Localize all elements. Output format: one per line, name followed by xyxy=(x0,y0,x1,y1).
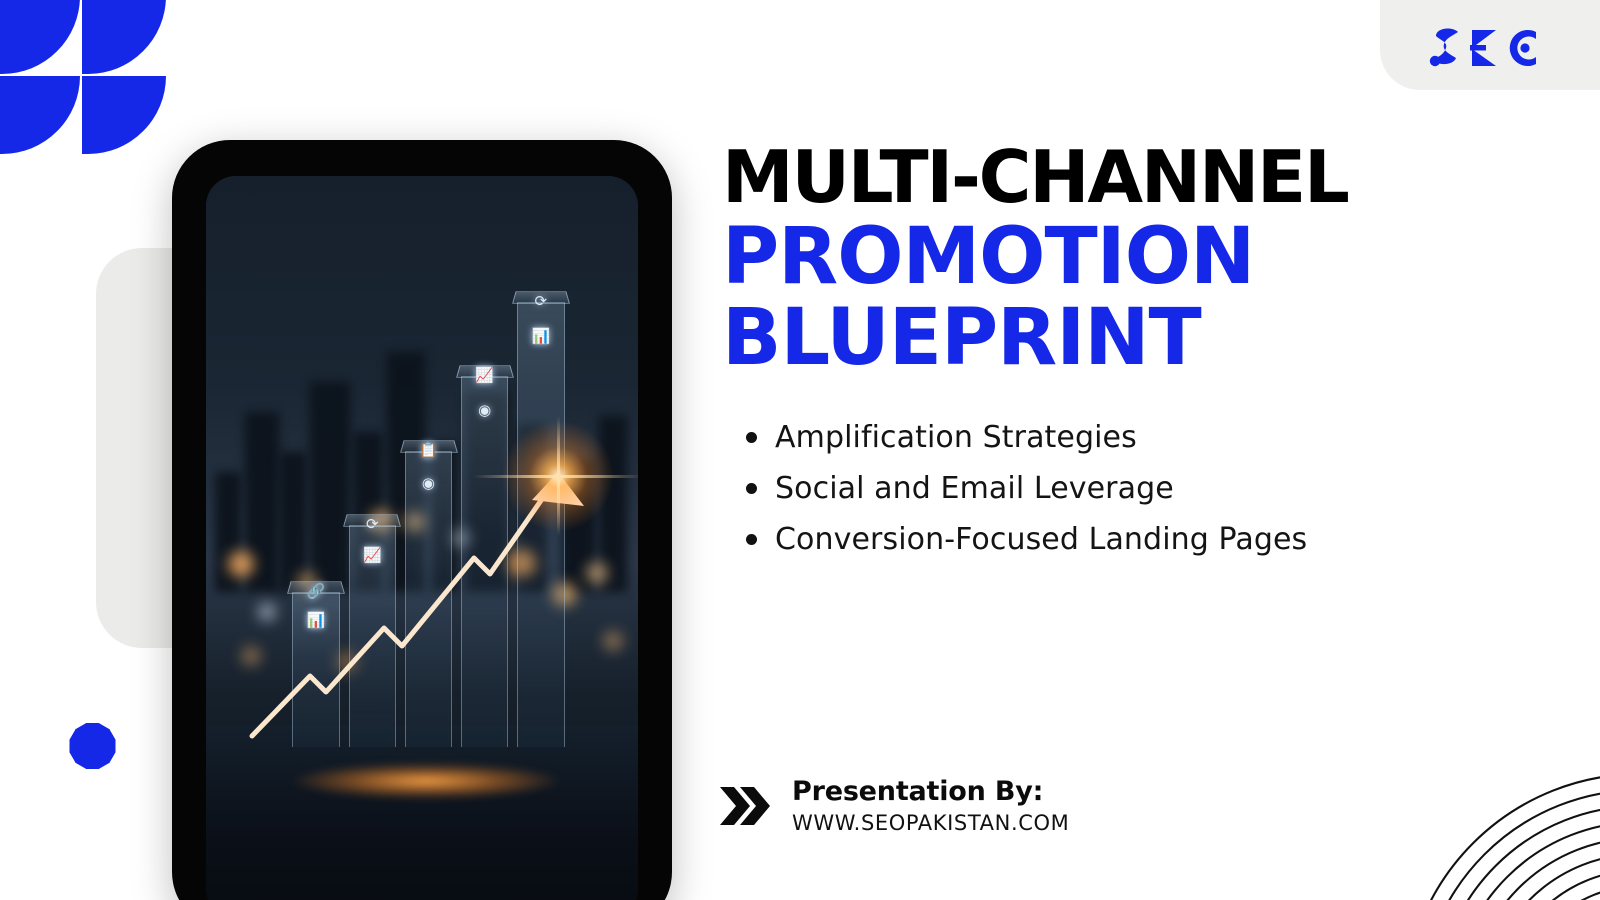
pinwheel-quarter-top-left xyxy=(0,0,80,74)
phone-mockup: 🔗 📊 ⟳ 📈 📋 ◉ 📈 ◉ ⟳ 📊 xyxy=(172,140,672,900)
bullet-list: Amplification Strategies Social and Emai… xyxy=(746,420,1446,573)
content-column: MULTI-CHANNEL PROMOTION BLUEPRINT Amplif… xyxy=(722,0,1482,900)
bullet-dot-icon xyxy=(746,483,757,494)
footer-credit: Presentation By: WWW.SEOPAKISTAN.COM xyxy=(718,776,1069,835)
arrow-spark-glow xyxy=(498,416,618,536)
ground-glow xyxy=(292,763,560,799)
title-line-3: BLUEPRINT xyxy=(722,300,1482,377)
bullet-dot-icon xyxy=(746,432,757,443)
footer-text-block: Presentation By: WWW.SEOPAKISTAN.COM xyxy=(792,776,1069,835)
pinwheel-quarter-bottom-right xyxy=(82,76,166,154)
starburst-decoration xyxy=(46,700,138,792)
bullet-dot-icon xyxy=(746,534,757,545)
double-chevron-icon xyxy=(718,783,770,829)
title-line-2: PROMOTION xyxy=(722,219,1482,296)
bullet-text: Conversion-Focused Landing Pages xyxy=(775,522,1307,557)
list-item: Amplification Strategies xyxy=(746,420,1446,455)
pinwheel-quarter-top-right xyxy=(82,0,166,74)
presentation-by-label: Presentation By: xyxy=(792,776,1069,807)
list-item: Conversion-Focused Landing Pages xyxy=(746,522,1446,557)
bullet-text: Social and Email Leverage xyxy=(775,471,1174,506)
website-url: WWW.SEOPAKISTAN.COM xyxy=(792,811,1069,835)
phone-screen: 🔗 📊 ⟳ 📈 📋 ◉ 📈 ◉ ⟳ 📊 xyxy=(206,176,638,900)
title-line-1: MULTI-CHANNEL xyxy=(722,142,1482,213)
bullet-text: Amplification Strategies xyxy=(775,420,1137,455)
presentation-slide: 🔗 📊 ⟳ 📈 📋 ◉ 📈 ◉ ⟳ 📊 xyxy=(0,0,1600,900)
slide-title: MULTI-CHANNEL PROMOTION BLUEPRINT xyxy=(722,142,1482,378)
list-item: Social and Email Leverage xyxy=(746,471,1446,506)
pinwheel-quarter-bottom-left xyxy=(0,76,80,154)
pinwheel-decoration xyxy=(0,0,168,156)
